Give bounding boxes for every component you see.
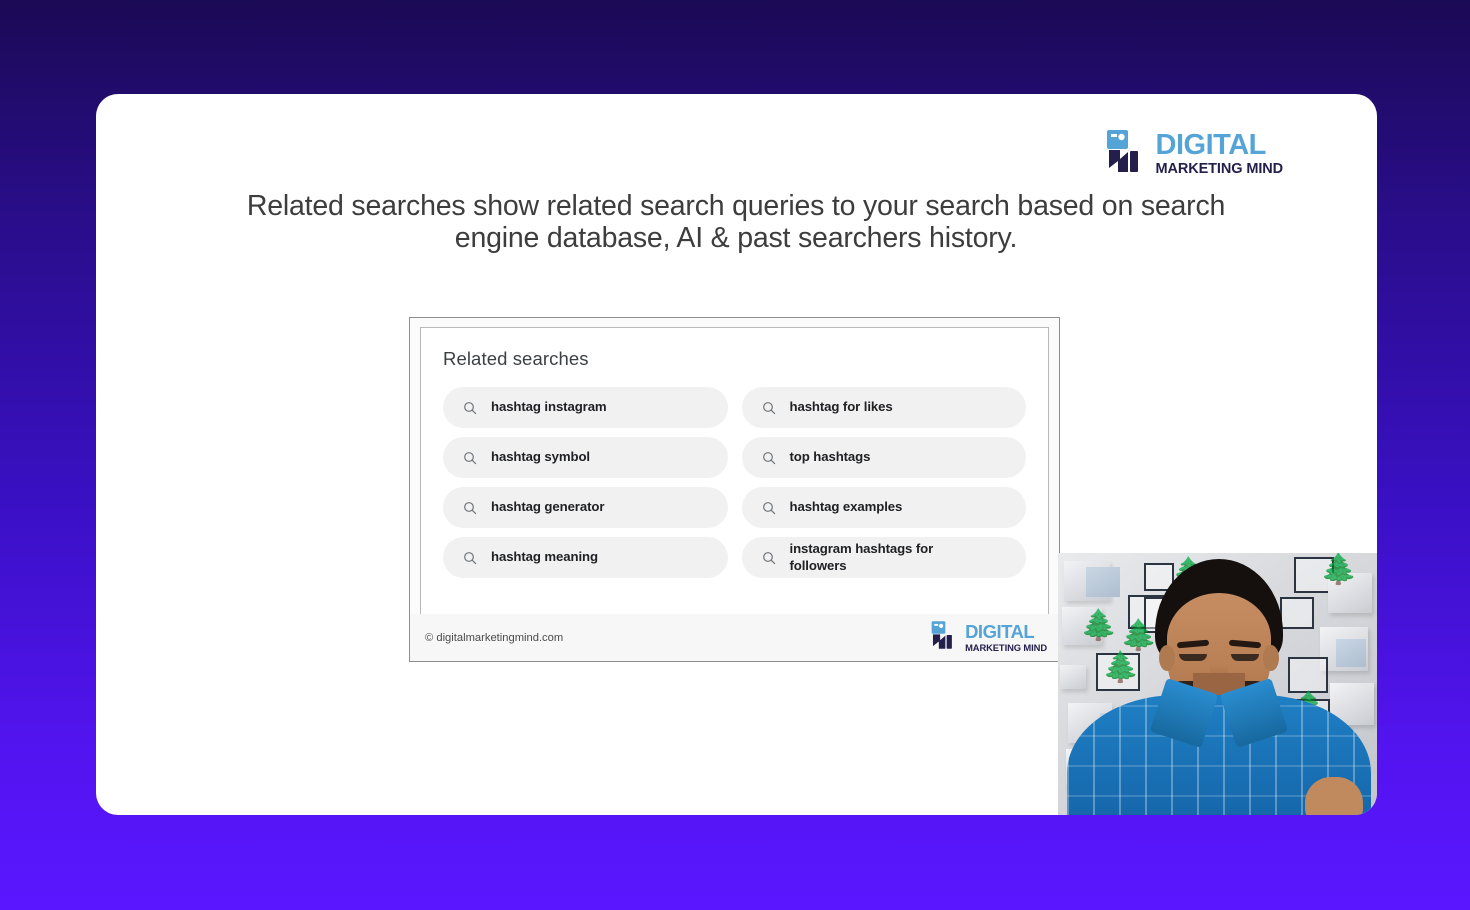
related-searches-chip-grid: hashtag instagram hashtag for likes: [443, 387, 1026, 578]
header-brand-logo: DIGITAL MARKETING MIND: [1106, 128, 1283, 179]
related-searches-title: Related searches: [443, 348, 1026, 370]
search-icon: [758, 451, 780, 465]
related-search-chip-label: hashtag for likes: [790, 399, 893, 415]
figure-footer: © digitalmarketingmind.com DIGITAL MARKE…: [410, 614, 1059, 661]
related-search-chip[interactable]: hashtag generator: [443, 487, 728, 528]
presenter-eye: [1231, 654, 1259, 661]
figure-credit-text: © digitalmarketingmind.com: [425, 632, 563, 644]
brand-wordmark: DIGITAL MARKETING MIND: [965, 623, 1047, 652]
presenter-webcam-overlay[interactable]: 🌲 🌲 🌲 🌲 🌲 🌲: [1058, 553, 1377, 815]
related-search-chip[interactable]: hashtag instagram: [443, 387, 728, 428]
brand-bottom-word: MARKETING MIND: [965, 643, 1047, 652]
presenter-ear: [1159, 645, 1175, 671]
related-search-chip[interactable]: hashtag for likes: [742, 387, 1027, 428]
related-search-chip[interactable]: instagram hashtags for followers: [742, 537, 1027, 578]
presenter-eye: [1179, 654, 1207, 661]
search-icon: [459, 551, 481, 565]
search-icon: [459, 501, 481, 515]
search-icon: [758, 551, 780, 565]
related-search-chip[interactable]: top hashtags: [742, 437, 1027, 478]
search-icon: [459, 401, 481, 415]
related-search-chip-label: hashtag generator: [491, 499, 604, 515]
related-search-chip-label: hashtag symbol: [491, 449, 590, 465]
footer-brand-logo: DIGITAL MARKETING MIND: [931, 620, 1047, 655]
presenter-ear: [1263, 645, 1279, 671]
slide-headline: Related searches show related search que…: [236, 190, 1236, 254]
brand-top-word: DIGITAL: [1156, 131, 1283, 160]
presenter-hand: [1305, 777, 1363, 815]
presenter-figure: [1058, 553, 1377, 815]
related-search-chip[interactable]: hashtag meaning: [443, 537, 728, 578]
related-searches-figure: Related searches hashtag instagram: [409, 317, 1060, 662]
search-icon: [459, 451, 481, 465]
search-icon: [758, 401, 780, 415]
related-search-chip-label: hashtag meaning: [491, 549, 598, 565]
brand-mark-icon: [931, 620, 961, 655]
related-search-chip-label: hashtag examples: [790, 499, 903, 515]
brand-wordmark: DIGITAL MARKETING MIND: [1156, 131, 1283, 177]
related-search-chip[interactable]: hashtag symbol: [443, 437, 728, 478]
related-search-chip-label: instagram hashtags for followers: [790, 541, 940, 573]
brand-mark-icon: [1106, 128, 1152, 179]
brand-top-word: DIGITAL: [965, 623, 1047, 642]
related-searches-panel: Related searches hashtag instagram: [420, 327, 1049, 615]
search-icon: [758, 501, 780, 515]
related-search-chip-label: top hashtags: [790, 449, 871, 465]
related-search-chip-label: hashtag instagram: [491, 399, 607, 415]
brand-bottom-word: MARKETING MIND: [1156, 162, 1283, 177]
related-search-chip[interactable]: hashtag examples: [742, 487, 1027, 528]
